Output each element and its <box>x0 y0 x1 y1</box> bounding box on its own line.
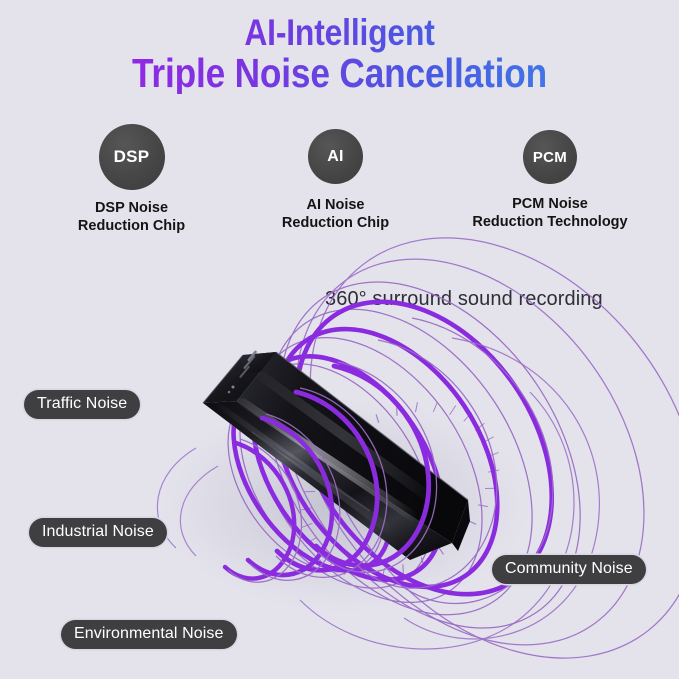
noise-label-environmental: Environmental Noise <box>61 620 237 649</box>
noise-label-traffic: Traffic Noise <box>24 390 140 419</box>
noise-label-industrial: Industrial Noise <box>29 518 167 547</box>
noise-label-community: Community Noise <box>492 555 646 584</box>
product-feature-poster: AI-Intelligent Triple Noise Cancellation… <box>0 0 679 679</box>
